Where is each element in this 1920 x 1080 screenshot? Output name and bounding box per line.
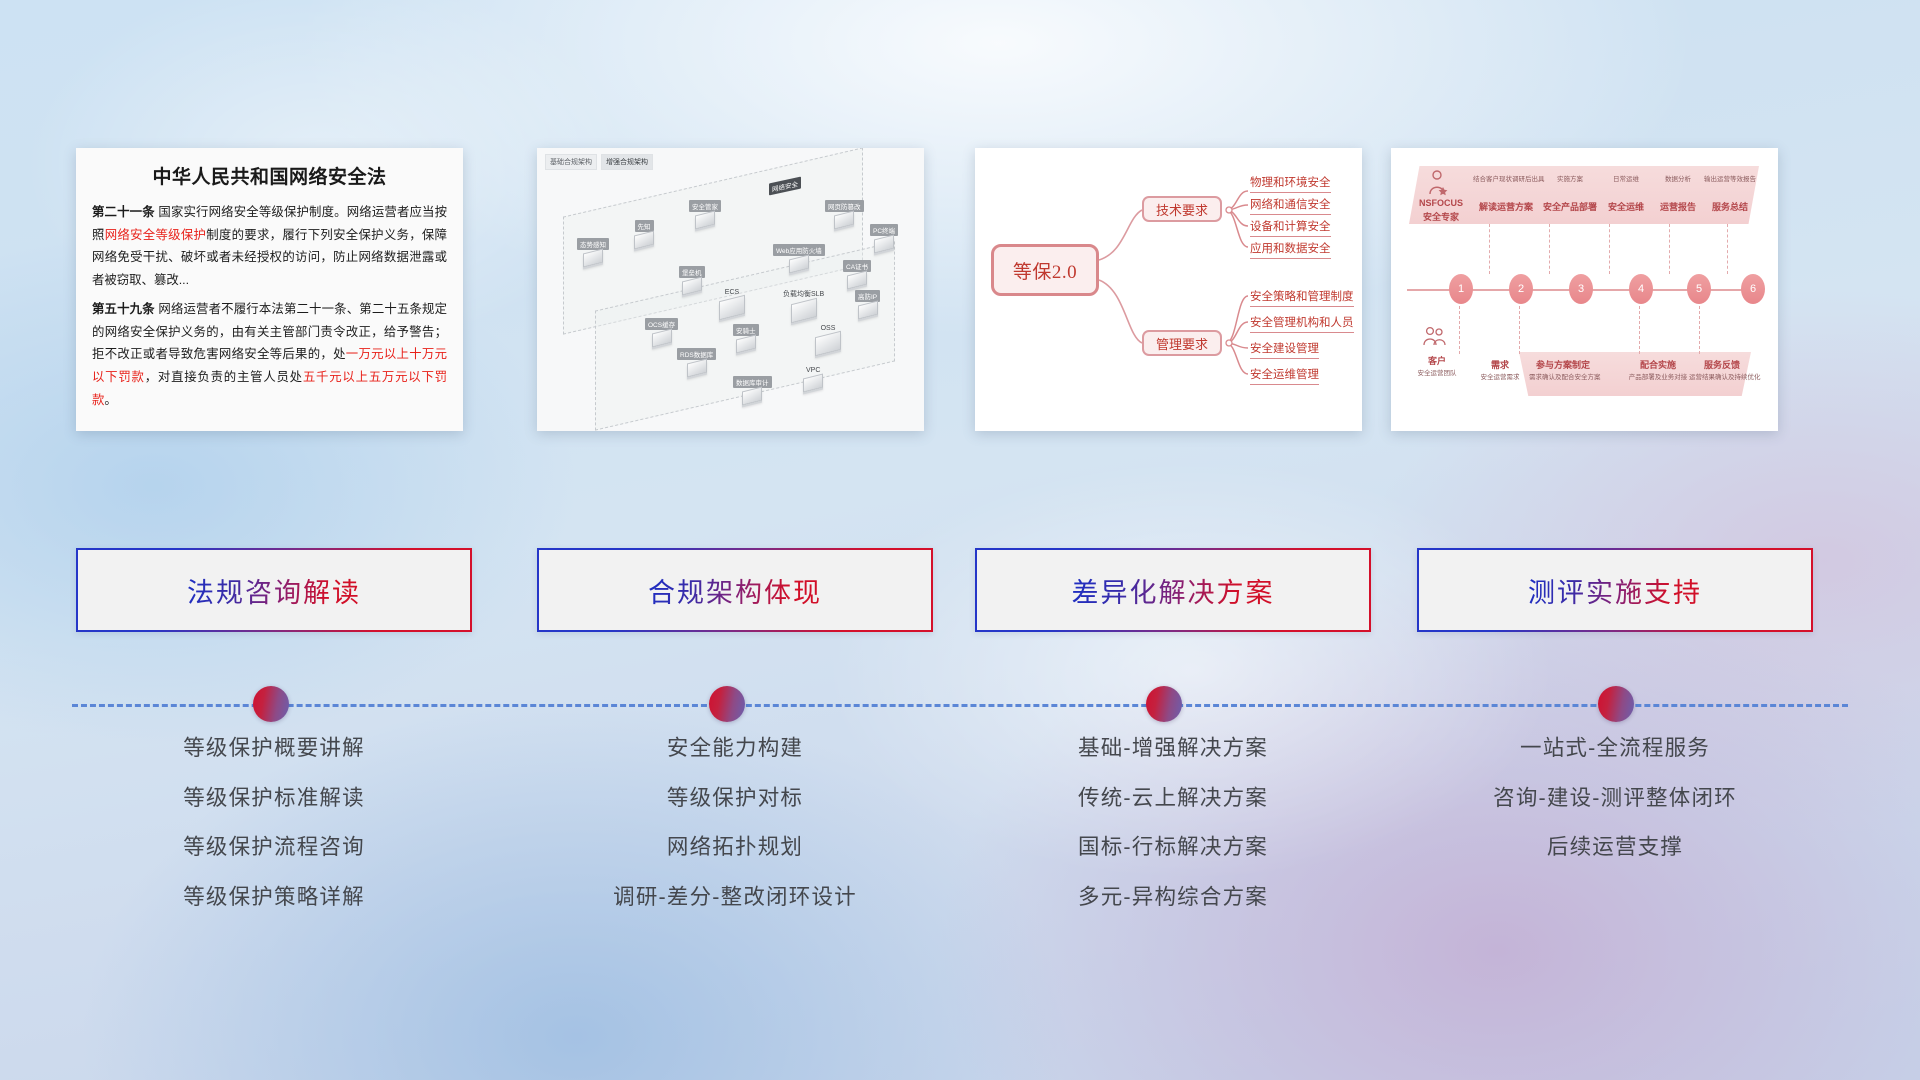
architecture-tabs: 基础合规架构 增强合规架构 (545, 154, 653, 170)
arch-node-slb: 负载均衡SLB (780, 288, 827, 320)
banner-label: 测评实施支持 (1528, 571, 1702, 610)
roadmap-brand-sub: 安全专家 (1415, 210, 1467, 223)
roadmap-top-title: 安全产品部署 (1539, 200, 1601, 213)
list-item: 一站式-全流程服务 (1417, 738, 1813, 760)
arch-node-waf: Web应用防火墙 (773, 244, 825, 271)
law-article-59: 第五十九条 网络运营者不履行本法第二十一条、第二十五条规定的网络安全保护义务的，… (92, 298, 447, 411)
list-item: 网络拓扑规划 (537, 837, 933, 859)
tab-enhanced-architecture[interactable]: 增强合规架构 (601, 154, 653, 170)
roadmap-step-dot[interactable]: 1 (1449, 274, 1473, 304)
arch-icon-box (815, 331, 841, 356)
roadmap-tick (1639, 306, 1640, 354)
roadmap-step-dot[interactable]: 3 (1569, 274, 1593, 304)
roadmap-top-caption: 结合客户现状调研后出具 (1473, 176, 1539, 184)
mindmap-leaf[interactable]: 安全策略和管理制度 (1250, 288, 1354, 307)
roadmap-bottom-title: 参与方案制定 (1533, 358, 1593, 371)
banner-label: 法规咨询解读 (187, 571, 361, 610)
arch-icon-box (742, 387, 762, 406)
mindmap-diagram: 等保2.0 技术要求 管理要求 物理和环境安全 网络和通信安全 设备和计算安全 … (975, 148, 1362, 431)
arch-node-anqishi: 安骑士 (733, 324, 759, 351)
roadmap-top-caption: 输出运营等效报告 (1701, 176, 1759, 184)
roadmap-top-title: 运营报告 (1651, 200, 1705, 213)
arch-icon-box (652, 329, 672, 348)
roadmap-bottom-caption: 安全运营需求 (1473, 374, 1527, 382)
mindmap-leaf[interactable]: 安全管理机构和人员 (1250, 314, 1354, 333)
roadmap-brand: NSFOCUS (1415, 198, 1467, 208)
roadmap-top-caption: 数据分析 (1653, 176, 1703, 184)
arch-node-anti-ddos-ip: 高防IP (855, 290, 880, 317)
list-column-solution: 基础-增强解决方案 传统-云上解决方案 国标-行标解决方案 多元-异构综合方案 (975, 738, 1371, 936)
timeline-dot-2[interactable] (709, 686, 745, 722)
list-item: 多元-异构综合方案 (975, 887, 1371, 909)
arch-node-vpc: VPC (803, 366, 823, 390)
list-item: 基础-增强解决方案 (975, 738, 1371, 760)
mindmap-branch-technical[interactable]: 技术要求 (1142, 196, 1222, 222)
arch-node-anti-tamper: 网页防篡改 (825, 200, 864, 227)
roadmap-top-title: 服务总结 (1701, 200, 1759, 213)
roadmap-tick (1489, 224, 1490, 274)
article-59-label: 第五十九条 (92, 302, 155, 316)
roadmap-top-caption: 实施方案 (1541, 176, 1599, 184)
card-mindmap-dengbao[interactable]: 等保2.0 技术要求 管理要求 物理和环境安全 网络和通信安全 设备和计算安全 … (975, 148, 1362, 431)
arch-node-rds: RDS数据库 (677, 348, 716, 375)
list-item: 等级保护概要讲解 (76, 738, 472, 760)
article-59-text-b: ，对直接负责的主管人员处 (145, 370, 303, 384)
arch-node-situational-awareness: 态势感知 (577, 238, 609, 265)
list-column-architecture: 安全能力构建 等级保护对标 网络拓扑规划 调研-差分-整改闭环设计 (537, 738, 933, 936)
roadmap-top-title: 解读运营方案 (1473, 200, 1539, 213)
banner-label: 差异化解决方案 (1072, 571, 1275, 610)
arch-node-ca-certificate: CA证书 (843, 260, 871, 287)
arch-node-network-security: 网络安全 (769, 180, 801, 192)
preview-card-row: 中华人民共和国网络安全法 第二十一条 国家实行网络安全等级保护制度。网络运营者应… (0, 148, 1920, 438)
arch-icon-box (583, 249, 603, 268)
list-column-regulation: 等级保护概要讲解 等级保护标准解读 等级保护流程咨询 等级保护策略详解 (76, 738, 472, 936)
mindmap-leaf[interactable]: 网络和通信安全 (1250, 196, 1331, 215)
mindmap-branch-management[interactable]: 管理要求 (1142, 330, 1222, 356)
roadmap-step-dot[interactable]: 6 (1741, 274, 1765, 304)
arch-icon-box (695, 211, 715, 230)
arch-icon-box (858, 301, 878, 320)
roadmap-customer-sub: 安全运营团队 (1409, 370, 1465, 378)
banner-differentiated-solution[interactable]: 差异化解决方案 (975, 548, 1371, 632)
roadmap-tick (1727, 224, 1728, 274)
roadmap-inner: NSFOCUS 安全专家 结合客户现状调研后出具 解读运营方案 实施方案 安全产… (1401, 156, 1768, 423)
list-item: 咨询-建设-测评整体闭环 (1417, 788, 1813, 810)
arch-icon-box (789, 255, 809, 274)
law-title: 中华人民共和国网络安全法 (92, 162, 447, 189)
list-item: 等级保护对标 (537, 788, 933, 810)
security-expert-icon (1427, 170, 1449, 196)
roadmap-tick (1549, 224, 1550, 274)
card-cloud-architecture[interactable]: 基础合规架构 增强合规架构 网络安全 安全管家 先知 态势感知 (537, 148, 924, 431)
arch-node-ecs: ECS (719, 288, 745, 317)
mindmap-leaf[interactable]: 物理和环境安全 (1250, 174, 1331, 193)
roadmap-customer: 客户 (1415, 354, 1459, 367)
roadmap-tick (1609, 224, 1610, 274)
roadmap-bottom-caption: 需求确认及配合安全方案 (1529, 374, 1597, 382)
roadmap-bottom-title: 配合实施 (1633, 358, 1683, 371)
card-cybersecurity-law[interactable]: 中华人民共和国网络安全法 第二十一条 国家实行网络安全等级保护制度。网络运营者应… (76, 148, 463, 431)
arch-icon-box (834, 211, 854, 230)
arch-node-bastion-host: 堡垒机 (679, 266, 705, 293)
arch-icon-box (803, 374, 823, 393)
mindmap-leaf[interactable]: 安全建设管理 (1250, 340, 1319, 359)
roadmap-bottom-caption: 产品部署及业务对接 (1625, 374, 1691, 382)
mindmap-leaf[interactable]: 设备和计算安全 (1250, 218, 1331, 237)
roadmap-bottom-title: 服务反馈 (1697, 358, 1747, 371)
roadmap-tick (1699, 306, 1700, 354)
list-item: 等级保护流程咨询 (76, 837, 472, 859)
detail-list-row: 等级保护概要讲解 等级保护标准解读 等级保护流程咨询 等级保护策略详解 安全能力… (0, 738, 1920, 968)
arch-icon-box (791, 298, 817, 323)
architecture-diagram: 基础合规架构 增强合规架构 网络安全 安全管家 先知 态势感知 (537, 148, 924, 431)
mindmap-leaf[interactable]: 应用和数据安全 (1250, 240, 1331, 259)
timeline (0, 680, 1920, 730)
list-item: 国标-行标解决方案 (975, 837, 1371, 859)
roadmap-step-dot[interactable]: 4 (1629, 274, 1653, 304)
arch-node-oss: OSS (815, 324, 841, 353)
arch-icon-box (634, 231, 654, 250)
banner-row: 法规咨询解读 合规架构体现 差异化解决方案 测评实施支持 (0, 548, 1920, 636)
mindmap-leaf[interactable]: 安全运维管理 (1250, 366, 1319, 385)
roadmap-diagram: NSFOCUS 安全专家 结合客户现状调研后出具 解读运营方案 实施方案 安全产… (1391, 148, 1778, 431)
roadmap-step-dot[interactable]: 2 (1509, 274, 1533, 304)
card-service-roadmap[interactable]: NSFOCUS 安全专家 结合客户现状调研后出具 解读运营方案 实施方案 安全产… (1391, 148, 1778, 431)
list-item: 传统-云上解决方案 (975, 788, 1371, 810)
roadmap-top-caption: 日常运维 (1601, 176, 1651, 184)
list-item: 等级保护策略详解 (76, 887, 472, 909)
arch-icon-box (719, 295, 745, 320)
article-21-label: 第二十一条 (92, 205, 155, 219)
arch-icon-box (736, 335, 756, 354)
timeline-dot-3[interactable] (1146, 686, 1182, 722)
arch-icon-box (874, 235, 894, 254)
timeline-dashed-line (72, 704, 1848, 707)
timeline-dot-4[interactable] (1598, 686, 1634, 722)
list-item: 安全能力构建 (537, 738, 933, 760)
arch-node-security-butler: 安全管家 (689, 200, 721, 227)
roadmap-step-dot[interactable]: 5 (1687, 274, 1711, 304)
arch-node-ocs-cache: OCS缓存 (645, 318, 678, 345)
list-item: 后续运营支撑 (1417, 837, 1813, 859)
roadmap-tick (1459, 306, 1460, 354)
law-article-21: 第二十一条 国家实行网络安全等级保护制度。网络运营者应当按照网络安全等级保护制度… (92, 201, 447, 291)
timeline-dot-1[interactable] (253, 686, 289, 722)
law-document: 中华人民共和国网络安全法 第二十一条 国家实行网络安全等级保护制度。网络运营者应… (76, 148, 463, 419)
banner-compliance-architecture[interactable]: 合规架构体现 (537, 548, 933, 632)
roadmap-tick (1519, 306, 1520, 354)
roadmap-top-title: 安全运维 (1599, 200, 1653, 213)
infographic-page: 中华人民共和国网络安全法 第二十一条 国家实行网络安全等级保护制度。网络运营者应… (0, 0, 1920, 1080)
arch-node-pc-terminal: PC终端 (870, 224, 898, 251)
arch-icon-box (847, 271, 867, 290)
roadmap-bottom-caption: 运营结果确认及持续优化 (1689, 374, 1757, 382)
banner-label: 合规架构体现 (648, 571, 822, 610)
arch-icon-box (682, 277, 702, 296)
customer-icon (1423, 326, 1447, 348)
arch-node-db-audit: 数据库审计 (733, 376, 772, 403)
list-item: 调研-差分-整改闭环设计 (537, 887, 933, 909)
article-59-text-c: 。 (104, 393, 116, 407)
arch-icon-box (687, 359, 707, 378)
roadmap-bottom-title: 需求 (1477, 358, 1523, 371)
list-item: 等级保护标准解读 (76, 788, 472, 810)
mindmap-root-node[interactable]: 等保2.0 (991, 244, 1099, 296)
list-column-assessment: 一站式-全流程服务 咨询-建设-测评整体闭环 后续运营支撑 (1417, 738, 1813, 887)
tab-basic-architecture[interactable]: 基础合规架构 (545, 154, 597, 170)
roadmap-tick (1669, 224, 1670, 274)
banner-regulation-consulting[interactable]: 法规咨询解读 (76, 548, 472, 632)
article-21-highlight: 网络安全等级保护 (105, 228, 207, 242)
arch-node-xianzhi: 先知 (634, 220, 654, 247)
banner-assessment-support[interactable]: 测评实施支持 (1417, 548, 1813, 632)
